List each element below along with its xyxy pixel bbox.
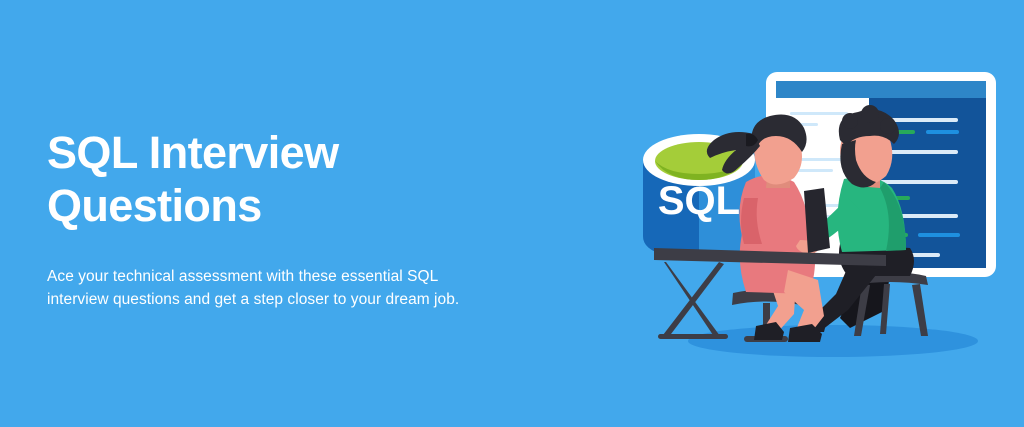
banner-copy: SQL Interview Questions Ace your technic…	[47, 126, 527, 311]
page-subtitle-line-1: Ace your technical assessment with these…	[47, 265, 527, 288]
page-subtitle: Ace your technical assessment with these…	[47, 232, 527, 311]
page-title-line-1: SQL Interview	[47, 126, 527, 179]
page-subtitle-line-2: interview questions and get a step close…	[47, 288, 527, 311]
screen-titlebar	[776, 81, 986, 98]
desk-leg-support	[658, 334, 728, 339]
hero-illustration: SQL	[618, 48, 1018, 378]
page-title: SQL Interview Questions	[47, 126, 527, 232]
floor-shadow-ellipse	[688, 325, 978, 357]
database-label: SQL	[658, 179, 740, 223]
page-title-line-2: Questions	[47, 179, 527, 232]
sql-interview-questions-banner: SQL Interview Questions Ace your technic…	[0, 0, 1024, 427]
